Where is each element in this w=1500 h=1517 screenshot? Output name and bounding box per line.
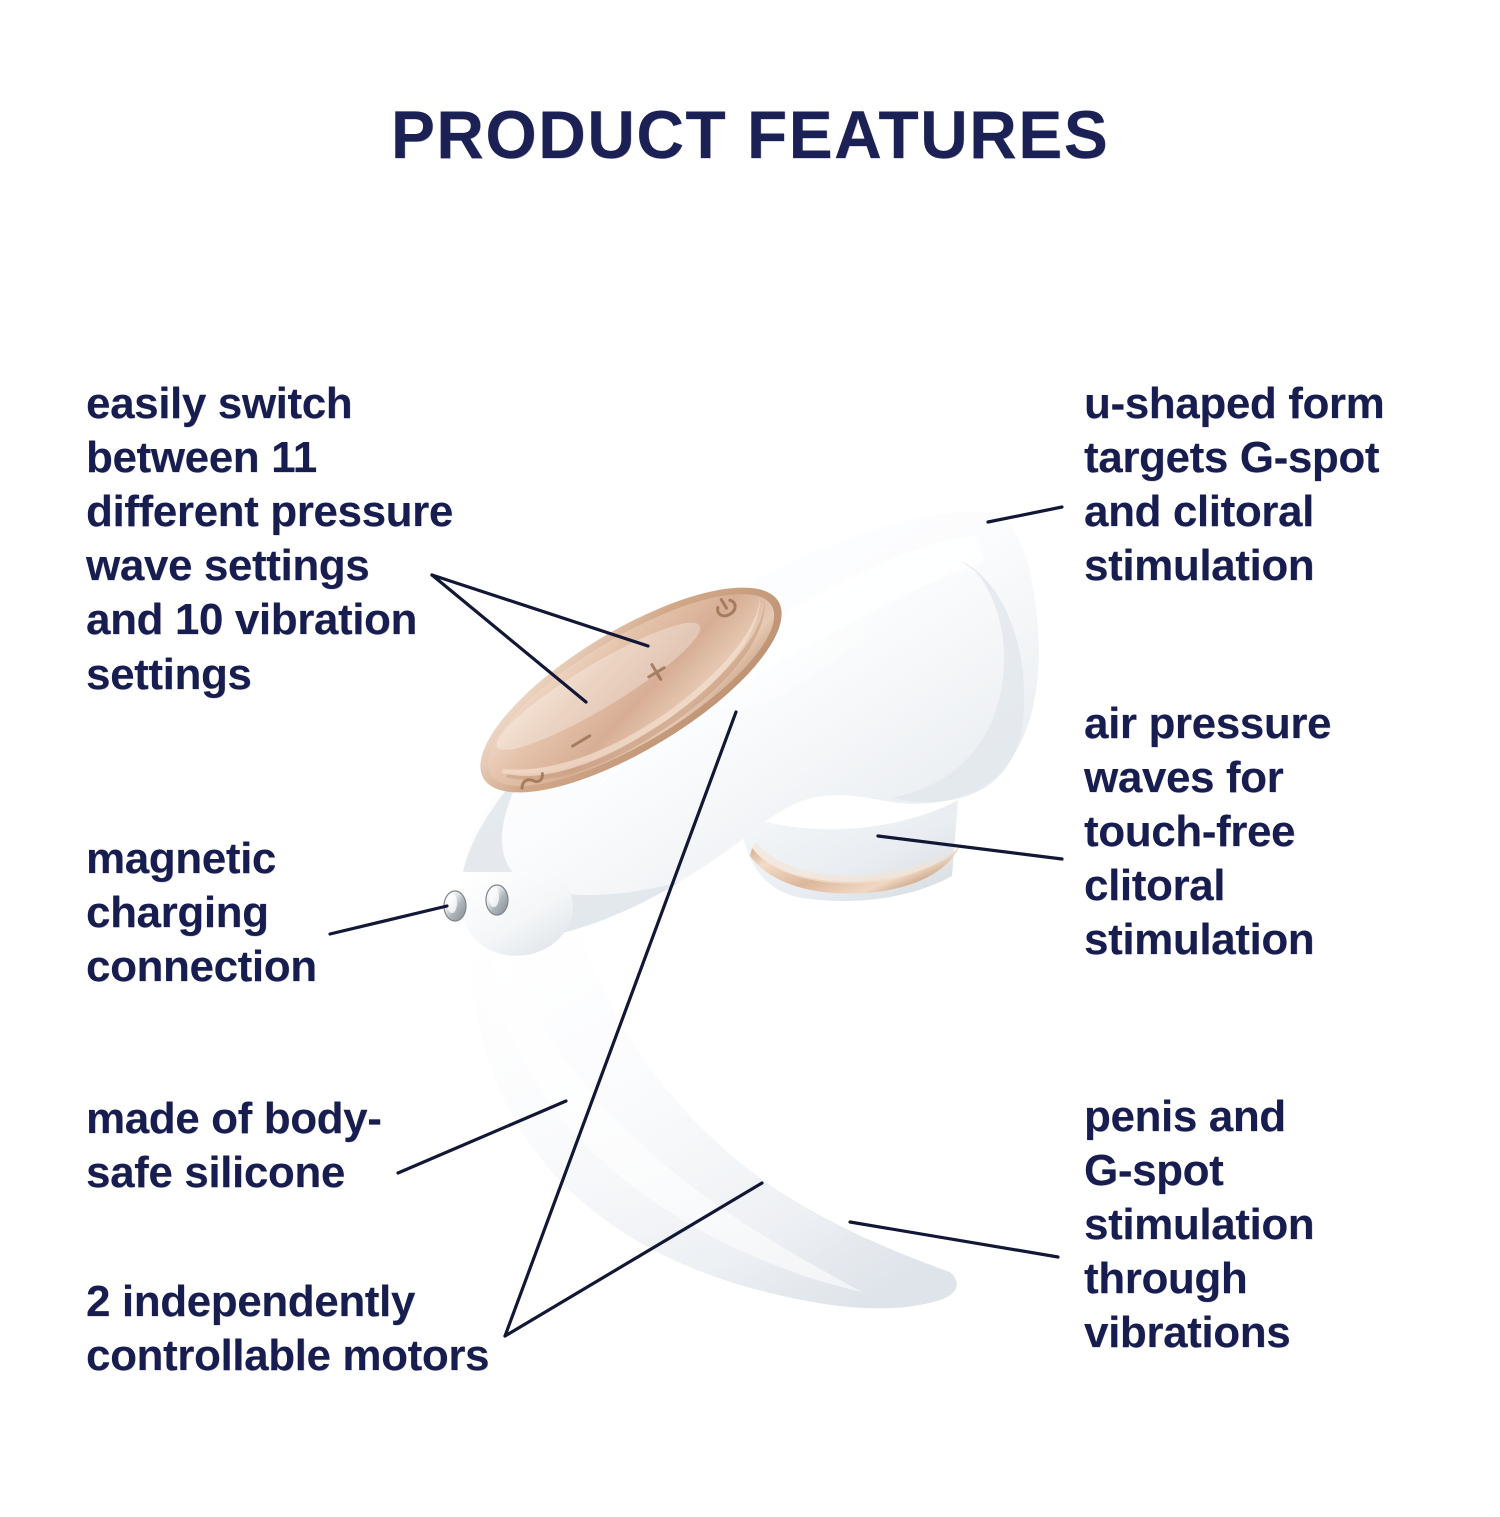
feature-label-ushape: u-shaped form targets G-spot and clitora… bbox=[1084, 377, 1454, 593]
feature-label-silicone: made of body- safe silicone bbox=[86, 1092, 486, 1200]
lower-arm bbox=[469, 893, 957, 1308]
feature-label-motors: 2 independently controllable motors bbox=[86, 1275, 566, 1383]
feature-label-penis: penis and G-spot stimulation through vib… bbox=[1084, 1090, 1414, 1361]
magnetic-charging-pin-right bbox=[486, 885, 508, 915]
feature-label-airwaves: air pressure waves for touch-free clitor… bbox=[1084, 697, 1414, 968]
feature-label-charging: magnetic charging connection bbox=[86, 832, 426, 994]
feature-label-settings: easily switch between 11 different press… bbox=[86, 377, 526, 702]
product-features-infographic: PRODUCT FEATURES bbox=[0, 0, 1500, 1517]
leader-line-ushape bbox=[988, 507, 1062, 522]
